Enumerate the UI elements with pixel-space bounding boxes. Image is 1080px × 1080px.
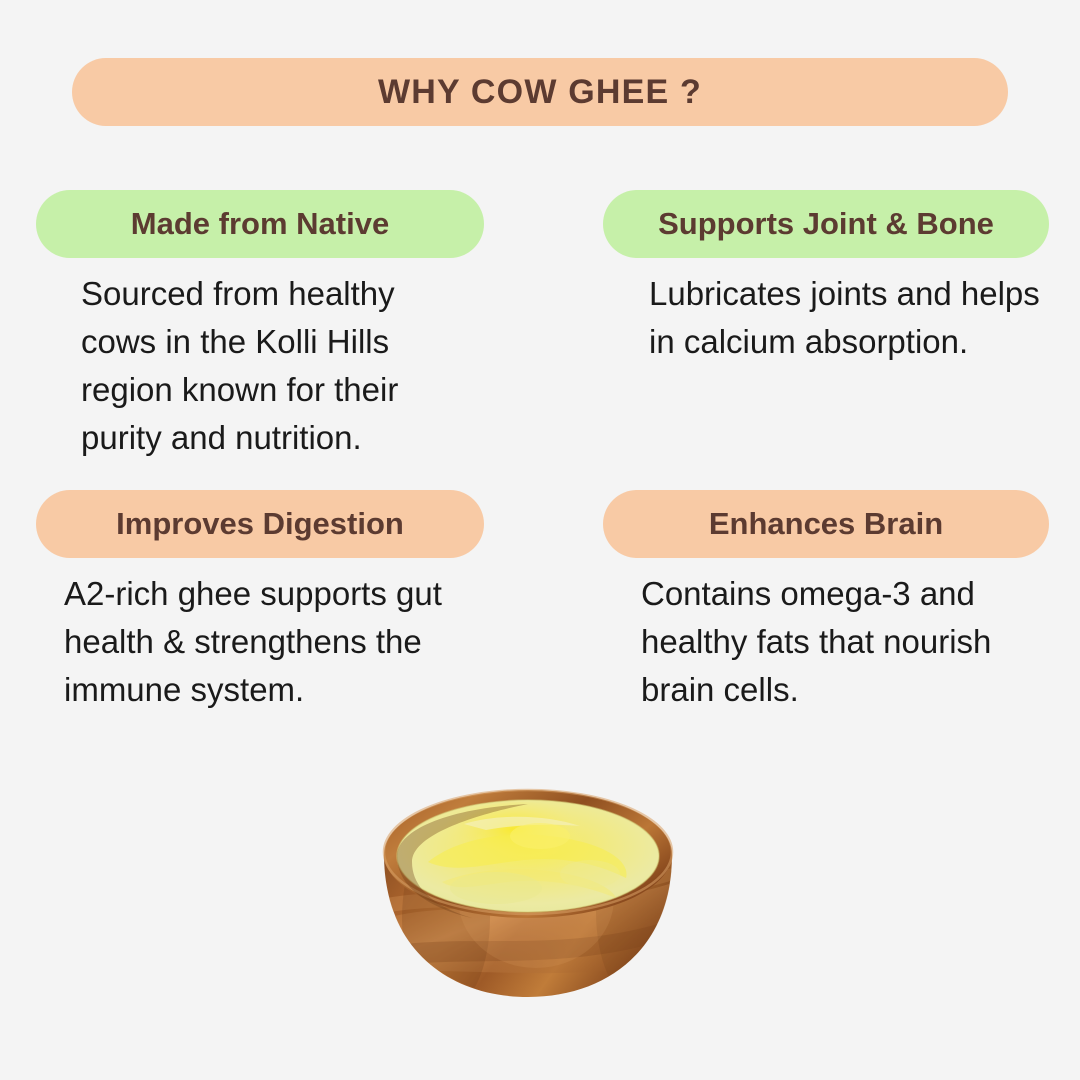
ghee-bowl-illustration xyxy=(368,778,688,1000)
feature-description: A2-rich ghee supports gut health & stren… xyxy=(36,558,484,714)
feature-label: Supports Joint & Bone xyxy=(658,206,994,242)
infographic-canvas: WHY COW GHEE ? Made from Native Sourced … xyxy=(0,0,1080,1080)
feature-label: Enhances Brain xyxy=(709,506,943,542)
feature-card-supports-joint-and-bone: Supports Joint & Bone Lubricates joints … xyxy=(603,190,1049,366)
feature-pill-improves-digestion[interactable]: Improves Digestion xyxy=(36,490,484,558)
feature-card-enhances-brain: Enhances Brain Contains omega-3 and heal… xyxy=(603,490,1049,714)
feature-description: Lubricates joints and helps in calcium a… xyxy=(603,258,1049,366)
feature-pill-made-from-native[interactable]: Made from Native xyxy=(36,190,484,258)
page-title: WHY COW GHEE ? xyxy=(378,73,702,112)
feature-card-improves-digestion: Improves Digestion A2-rich ghee supports… xyxy=(36,490,484,714)
wooden-bowl-of-ghee-icon xyxy=(368,778,688,1000)
feature-label: Improves Digestion xyxy=(116,506,404,542)
feature-pill-enhances-brain[interactable]: Enhances Brain xyxy=(603,490,1049,558)
header-banner: WHY COW GHEE ? xyxy=(72,58,1008,126)
feature-pill-supports-joint-and-bone[interactable]: Supports Joint & Bone xyxy=(603,190,1049,258)
feature-label: Made from Native xyxy=(131,206,389,242)
feature-card-made-from-native: Made from Native Sourced from healthy co… xyxy=(36,190,484,462)
feature-description: Contains omega-3 and healthy fats that n… xyxy=(603,558,1049,714)
feature-description: Sourced from healthy cows in the Kolli H… xyxy=(36,258,484,462)
